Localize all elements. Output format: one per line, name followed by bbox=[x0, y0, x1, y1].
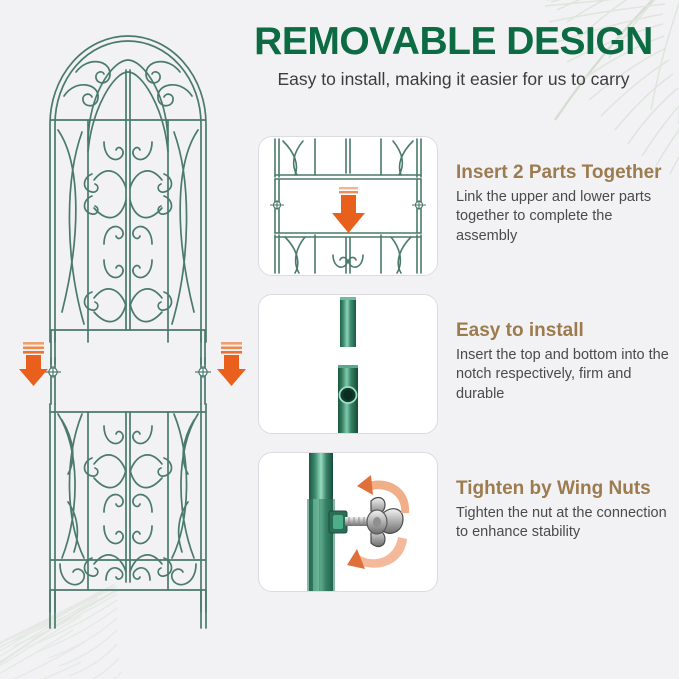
trellis-product-illustration bbox=[18, 12, 248, 632]
wing-nut-icon bbox=[367, 498, 403, 547]
feature-title: Tighten by Wing Nuts bbox=[456, 478, 672, 500]
page-subtitle: Easy to install, making it easier for us… bbox=[228, 69, 679, 90]
notch-hole-icon bbox=[340, 387, 357, 403]
page-title: REMOVABLE DESIGN bbox=[228, 22, 679, 63]
wing-nut-diagram bbox=[259, 453, 437, 591]
feature-description: Link the upper and lower parts together … bbox=[456, 188, 671, 247]
feature-text-tighten-wing-nuts: Tighten by Wing Nuts Tighten the nut at … bbox=[438, 452, 672, 543]
assembly-arrow-right bbox=[217, 342, 246, 386]
infographic-canvas: REMOVABLE DESIGN Easy to install, making… bbox=[0, 0, 679, 679]
feature-title: Easy to install bbox=[456, 320, 672, 342]
feature-description: Tighten the nut at the connection to enh… bbox=[456, 504, 671, 543]
upper-tube bbox=[340, 297, 356, 347]
connector-pin-right bbox=[195, 366, 211, 378]
illustration-panel-insert-2-parts bbox=[258, 136, 438, 276]
feature-text-easy-to-install: Easy to install Insert the top and botto… bbox=[438, 294, 672, 405]
down-arrow-icon bbox=[332, 187, 365, 233]
trellis-lower-section bbox=[50, 358, 206, 628]
connector-nut-right-icon bbox=[412, 200, 426, 210]
feature-text-insert-2-parts: Insert 2 Parts Together Link the upper a… bbox=[438, 136, 672, 247]
insert-two-parts-diagram bbox=[259, 137, 437, 275]
bolt-head-icon bbox=[329, 511, 347, 533]
feature-title: Insert 2 Parts Together bbox=[456, 162, 672, 184]
feature-row-insert-2-parts: Insert 2 Parts Together Link the upper a… bbox=[258, 136, 672, 276]
trellis-upper-section bbox=[50, 36, 206, 364]
illustration-panel-tighten-wing-nuts bbox=[258, 452, 438, 592]
feature-description: Insert the top and bottom into the notch… bbox=[456, 346, 671, 405]
feature-list: Insert 2 Parts Together Link the upper a… bbox=[258, 136, 672, 610]
assembly-arrow-left bbox=[19, 342, 48, 386]
connector-nut-left-icon bbox=[270, 200, 284, 210]
feature-row-easy-to-install: Easy to install Insert the top and botto… bbox=[258, 294, 672, 434]
tube-notch-diagram bbox=[259, 295, 437, 433]
illustration-panel-easy-to-install bbox=[258, 294, 438, 434]
header: REMOVABLE DESIGN Easy to install, making… bbox=[228, 22, 679, 90]
feature-row-tighten-wing-nuts: Tighten by Wing Nuts Tighten the nut at … bbox=[258, 452, 672, 592]
